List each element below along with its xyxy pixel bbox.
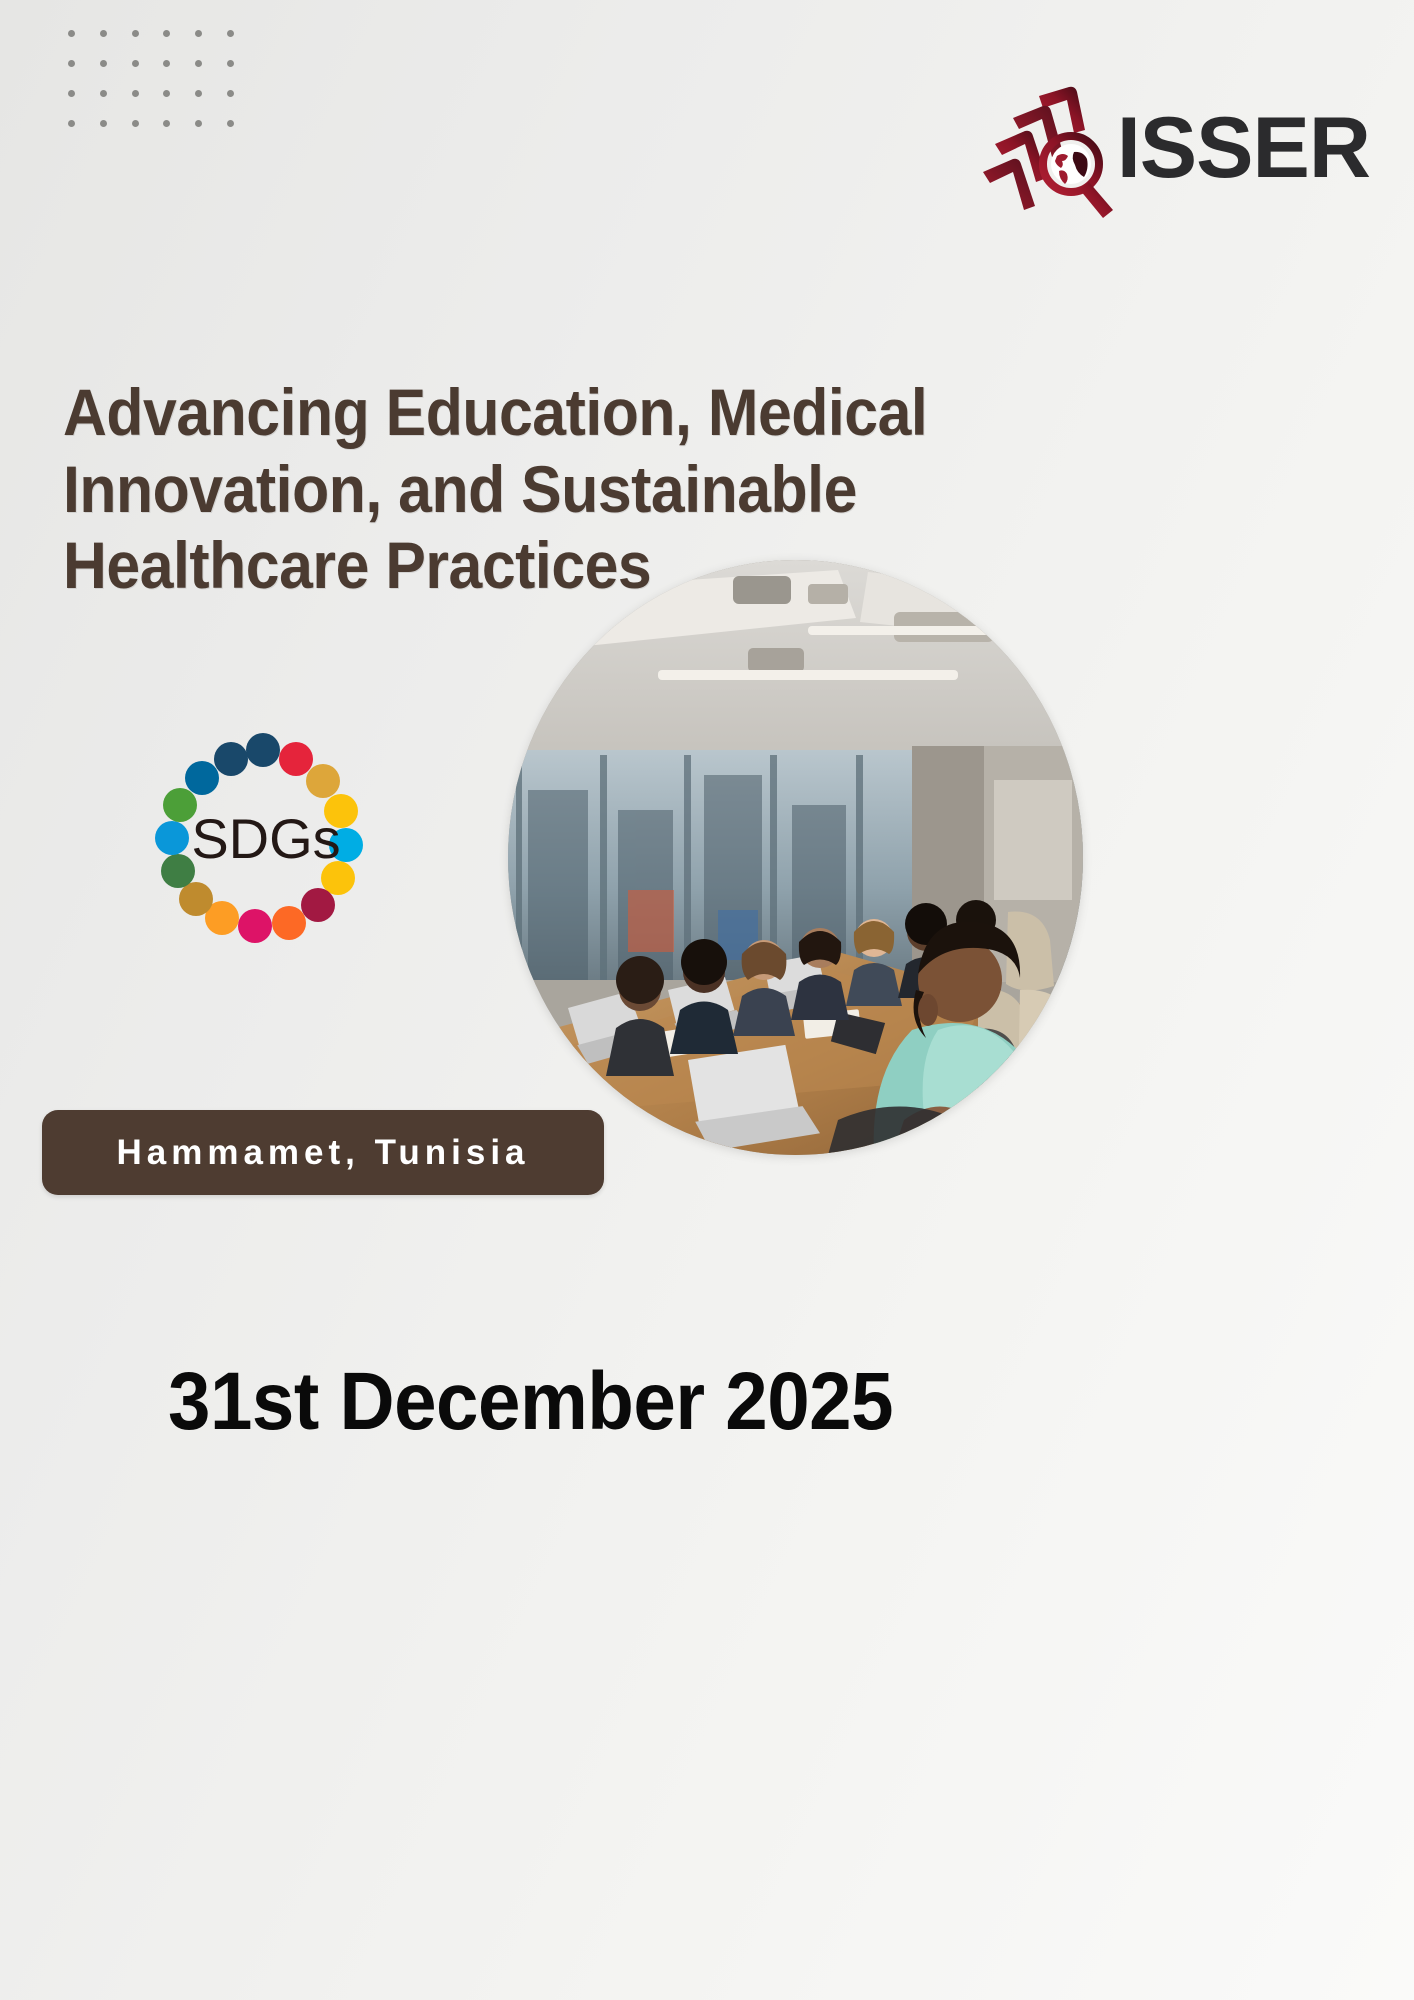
conference-room-meeting-photo <box>508 560 1083 1155</box>
dot-grid-icon <box>56 18 246 138</box>
event-date: 31st December 2025 <box>168 1355 893 1449</box>
svg-text:SDGs: SDGs <box>191 807 340 870</box>
sdgs-logo: SDGs <box>148 728 378 958</box>
location-badge: Hammamet, Tunisia <box>42 1110 604 1195</box>
books-globe-magnifier-icon <box>973 78 1123 218</box>
conference-poster: ISSER Advancing Education, Medical Innov… <box>0 0 1414 2000</box>
isser-logo: ISSER <box>973 78 1370 218</box>
location-text: Hammamet, Tunisia <box>116 1133 529 1173</box>
brand-name: ISSER <box>1117 105 1370 191</box>
sdgs-wheel-icon: SDGs <box>148 728 378 958</box>
conference-photo <box>508 560 1083 1155</box>
